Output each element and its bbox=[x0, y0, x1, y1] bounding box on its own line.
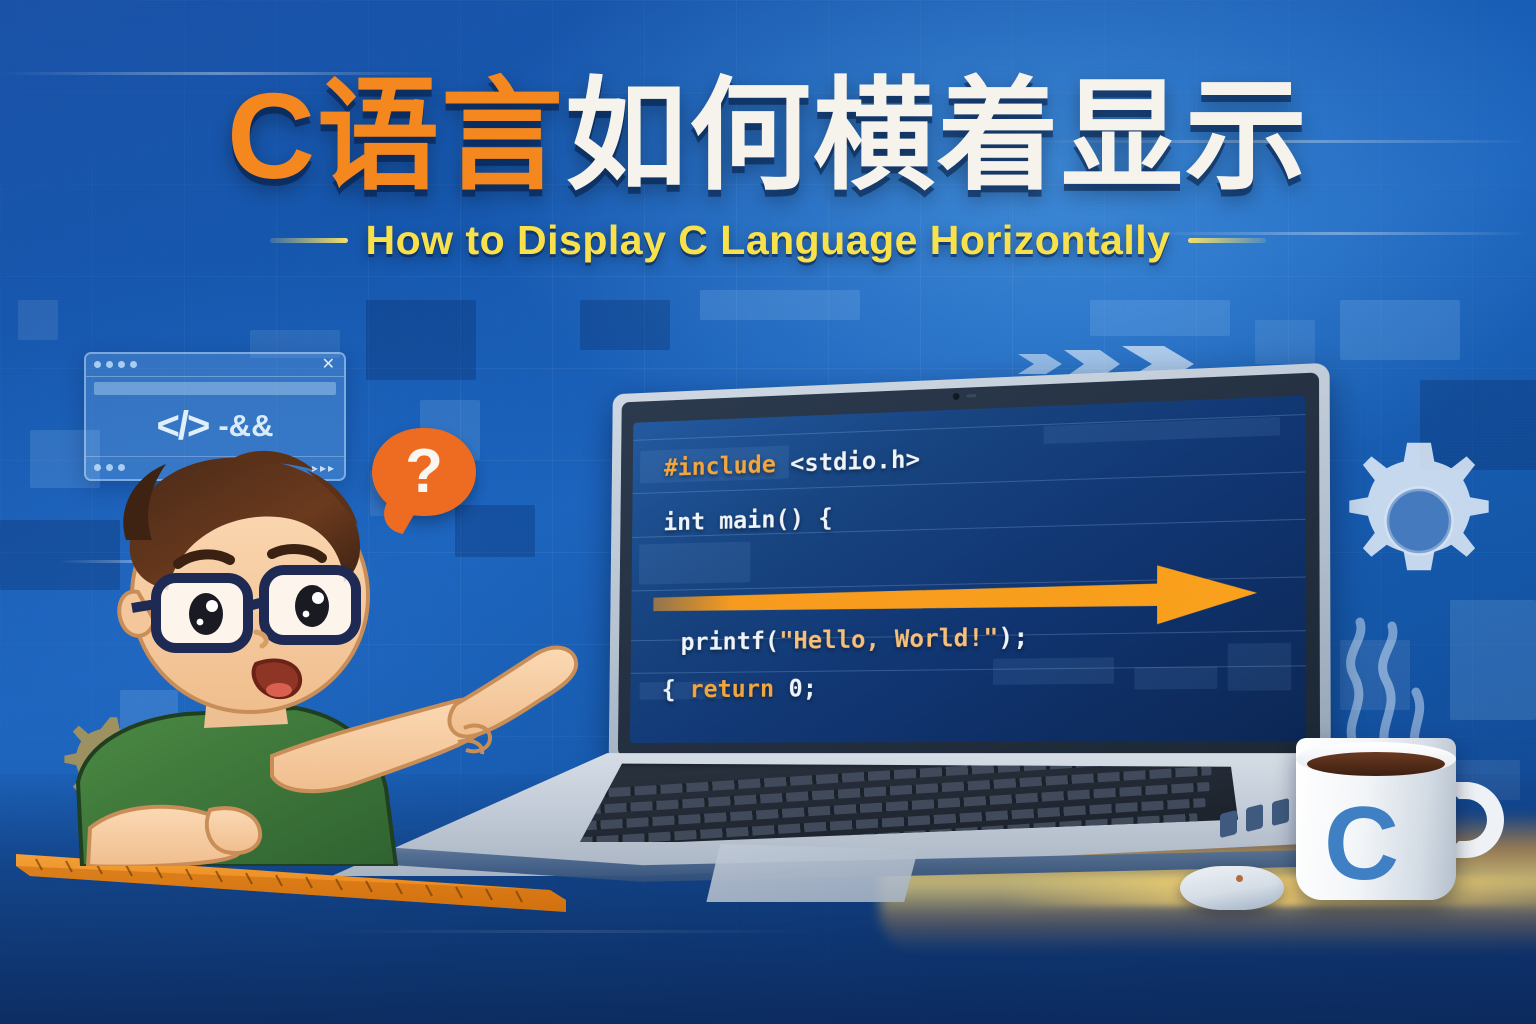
laptop-lid: #include <stdio.h> int main() { printf("… bbox=[609, 363, 1331, 768]
boy-character bbox=[60, 436, 620, 866]
mug-rim bbox=[1296, 742, 1456, 776]
screen-bezel: #include <stdio.h> int main() { printf("… bbox=[618, 372, 1320, 756]
subtitle-dash-right bbox=[1188, 238, 1266, 243]
title-white-part: 如何横着显示 bbox=[565, 68, 1309, 204]
code-line-return: { return 0; bbox=[662, 668, 1306, 703]
laptop-screen[interactable]: #include <stdio.h> int main() { printf("… bbox=[630, 396, 1306, 743]
code-line-include: #include <stdio.h> bbox=[664, 430, 1306, 481]
coffee-mug: C bbox=[1296, 724, 1511, 904]
code-line-main: int main() { bbox=[663, 489, 1305, 536]
webcam-dot-icon bbox=[953, 393, 960, 400]
window-dots-icon bbox=[94, 361, 137, 368]
page-title: C语言如何横着显示 bbox=[0, 72, 1536, 201]
gear-icon bbox=[1334, 436, 1504, 606]
title-block: C语言如何横着显示 How to Display C Language Hori… bbox=[0, 72, 1536, 264]
mouse-icon[interactable] bbox=[1180, 866, 1284, 910]
pointing-hand bbox=[449, 648, 576, 737]
resting-fist bbox=[207, 808, 260, 853]
question-mark: ? bbox=[405, 441, 443, 503]
mug-letter-c: C bbox=[1324, 792, 1399, 896]
close-icon[interactable]: ✕ bbox=[322, 356, 335, 374]
horizontal-right-arrow-icon bbox=[651, 561, 1261, 634]
subtitle: How to Display C Language Horizontally bbox=[366, 217, 1171, 264]
mug-body: C bbox=[1296, 738, 1456, 900]
poster-canvas: ✕ </> -&& ▸▸▸ bbox=[0, 0, 1536, 1024]
subtitle-row: How to Display C Language Horizontally bbox=[0, 217, 1536, 264]
title-orange-part: C语言 bbox=[227, 68, 565, 204]
coffee-surface bbox=[1307, 752, 1445, 776]
code-window-titlebar: ✕ bbox=[86, 354, 344, 377]
question-bubble: ? bbox=[372, 428, 476, 516]
subtitle-dash-left bbox=[270, 238, 348, 243]
trackpad[interactable] bbox=[688, 844, 918, 902]
